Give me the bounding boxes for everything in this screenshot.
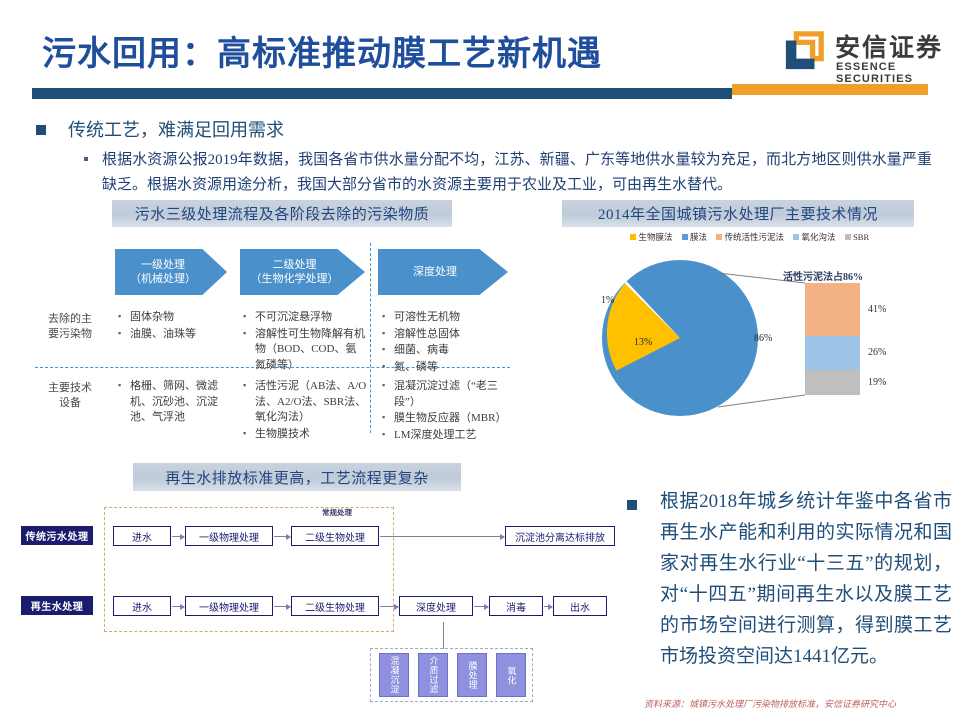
matrix-cell-item: 生物膜技术 [243, 427, 369, 443]
flow-connector [172, 536, 184, 537]
stacked-bar-title: 活性污泥法占86% [783, 268, 863, 283]
logo-mark-icon [783, 30, 825, 72]
logo-name-cn: 安信证券 [835, 28, 943, 64]
deep-treatment-box: 介质过滤 [418, 653, 448, 697]
deep-treatment-connector [443, 622, 444, 649]
pie-label-1: 1% [601, 295, 614, 306]
deep-treatment-box: 氧化 [496, 653, 526, 697]
flow-box: 消毒 [489, 596, 543, 616]
legend-swatch-icon [793, 234, 799, 240]
matrix-cell-item: 不可沉淀悬浮物 [243, 310, 367, 326]
stage-label-line2: （生物化学处理） [251, 272, 339, 286]
stacked-bar-chart [805, 283, 860, 395]
bullet-level2-text: 根据水资源公报2019年数据，我国各省市供水量分配不均，江苏、新疆、广东等地供水… [102, 148, 932, 198]
flow-box: 深度处理 [399, 596, 473, 616]
row-label-equipment: 主要技术 设备 [38, 381, 102, 411]
conventional-treatment-label: 常规处理 [322, 507, 352, 518]
stage-arrow-primary: 一级处理 （机械处理） [115, 249, 227, 295]
header-rule-orange [732, 84, 928, 95]
flow-connector [544, 606, 552, 607]
side-label-reclaimed: 再生水处理 [21, 596, 93, 615]
stacked-bar-label: 26% [868, 347, 886, 358]
legend-label: 膜法 [690, 231, 707, 243]
matrix-cell-item: 膜生物反应器（MBR） [382, 411, 512, 427]
flow-box: 二级生物处理 [291, 526, 379, 546]
right-panel-title: 2014年全国城镇污水处理厂主要技术情况 [562, 200, 914, 227]
legend-label: 氧化沟法 [802, 231, 836, 243]
matrix-cell: 格栅、筛网、微滤机、沉砂池、沉淀池、气浮池 [118, 379, 230, 427]
pie-label-13: 13% [634, 337, 652, 348]
flow-panel-title: 再生水排放标准更高，工艺流程更复杂 [133, 463, 461, 491]
flow-connector [380, 606, 398, 607]
matrix-cell: 固体杂物油膜、油珠等 [118, 310, 228, 343]
matrix-cell-item: 溶解性可生物降解有机物（BOD、COD、氨氮磷等） [243, 327, 367, 374]
legend-item: SBR [845, 232, 870, 242]
legend-item: 膜法 [682, 231, 708, 243]
stage-label-line1: 二级处理 [273, 258, 317, 272]
bullet-square-icon [36, 125, 46, 135]
flow-connector [172, 606, 184, 607]
matrix-cell-item: LM深度处理工艺 [382, 428, 512, 444]
stacked-bar-segment [805, 283, 860, 336]
matrix-cell: 混凝沉淀过滤（“老三段”）膜生物反应器（MBR）LM深度处理工艺 [382, 379, 512, 444]
stacked-bar-label: 41% [868, 304, 886, 315]
brand-logo: 安信证券 ESSENCE SECURITIES [783, 28, 948, 80]
row-label-pollutants: 去除的主 要污染物 [38, 312, 102, 342]
chart-legend: 生物膜法膜法传统活性污泥法氧化沟法SBR [630, 231, 930, 243]
right-bullet-square-icon [627, 500, 637, 510]
page-title: 污水回用：高标准推动膜工艺新机遇 [42, 26, 602, 75]
legend-swatch-icon [630, 234, 636, 240]
legend-swatch-icon [845, 234, 851, 240]
stacked-bar-label: 19% [868, 377, 886, 388]
legend-item: 氧化沟法 [793, 231, 836, 243]
flow-connector [274, 606, 290, 607]
flow-box: 沉淀池分离达标排放 [505, 526, 615, 546]
legend-label: SBR [853, 232, 869, 242]
matrix-cell: 不可沉淀悬浮物溶解性可生物降解有机物（BOD、COD、氨氮磷等） [243, 310, 367, 374]
matrix-cell-item: 溶解性总固体 [382, 327, 510, 343]
matrix-cell: 活性污泥（AB法、A/O法、A2/O法、SBR法、氧化沟法）生物膜技术 [243, 379, 369, 443]
stage-arrow-advanced: 深度处理 [378, 249, 508, 295]
flow-box: 二级生物处理 [291, 596, 379, 616]
stage-label-line2: （机械处理） [130, 272, 196, 286]
flow-box: 一级物理处理 [185, 526, 273, 546]
matrix-cell: 可溶性无机物溶解性总固体细菌、病毒氮、磷等 [382, 310, 510, 376]
flow-box: 出水 [553, 596, 607, 616]
deep-treatment-box: 混凝沉淀 [379, 653, 409, 697]
matrix-cell-item: 可溶性无机物 [382, 310, 510, 326]
legend-swatch-icon [716, 234, 722, 240]
flow-box: 进水 [113, 526, 171, 546]
stacked-bar-segment [805, 336, 860, 370]
bullet-level1-text: 传统工艺，难满足回用需求 [68, 116, 284, 142]
matrix-cell-item: 混凝沉淀过滤（“老三段”） [382, 379, 512, 410]
stacked-bar-segment [805, 370, 860, 395]
flow-connector [274, 536, 290, 537]
right-text-body: 根据2018年城乡统计年鉴中各省市再生水产能和利用的实际情况和国家对再生水行业“… [660, 486, 952, 672]
logo-name-en: ESSENCE SECURITIES [836, 61, 948, 85]
matrix-cell-item: 氮、磷等 [382, 360, 510, 376]
matrix-cell-item: 油膜、油珠等 [118, 327, 228, 343]
deep-treatment-box: 膜处理 [457, 653, 487, 697]
flow-connector [474, 606, 488, 607]
slide-root: 污水回用：高标准推动膜工艺新机遇 安信证券 ESSENCE SECURITIES… [0, 0, 960, 720]
header-rule-blue [32, 88, 732, 99]
stage-label-line1: 深度处理 [413, 265, 457, 279]
bullet-dot-icon [84, 157, 88, 161]
legend-label: 传统活性污泥法 [725, 231, 785, 243]
legend-swatch-icon [682, 234, 688, 240]
vertical-divider [370, 243, 371, 433]
source-note: 资料来源：城镇污水处理厂污染物排放标准，安信证券研究中心 [644, 697, 896, 710]
legend-item: 生物膜法 [630, 231, 673, 243]
stage-arrow-secondary: 二级处理 （生物化学处理） [240, 249, 365, 295]
flow-box: 进水 [113, 596, 171, 616]
legend-label: 生物膜法 [639, 231, 673, 243]
side-label-traditional: 传统污水处理 [21, 526, 93, 545]
flow-connector [380, 536, 504, 537]
stage-label-line1: 一级处理 [141, 258, 185, 272]
left-panel-title: 污水三级处理流程及各阶段去除的污染物质 [112, 200, 452, 227]
matrix-cell-item: 活性污泥（AB法、A/O法、A2/O法、SBR法、氧化沟法） [243, 379, 369, 426]
matrix-cell-item: 细菌、病毒 [382, 343, 510, 359]
matrix-cell-item: 格栅、筛网、微滤机、沉砂池、沉淀池、气浮池 [118, 379, 230, 426]
legend-item: 传统活性污泥法 [716, 231, 784, 243]
matrix-cell-item: 固体杂物 [118, 310, 228, 326]
flow-box: 一级物理处理 [185, 596, 273, 616]
